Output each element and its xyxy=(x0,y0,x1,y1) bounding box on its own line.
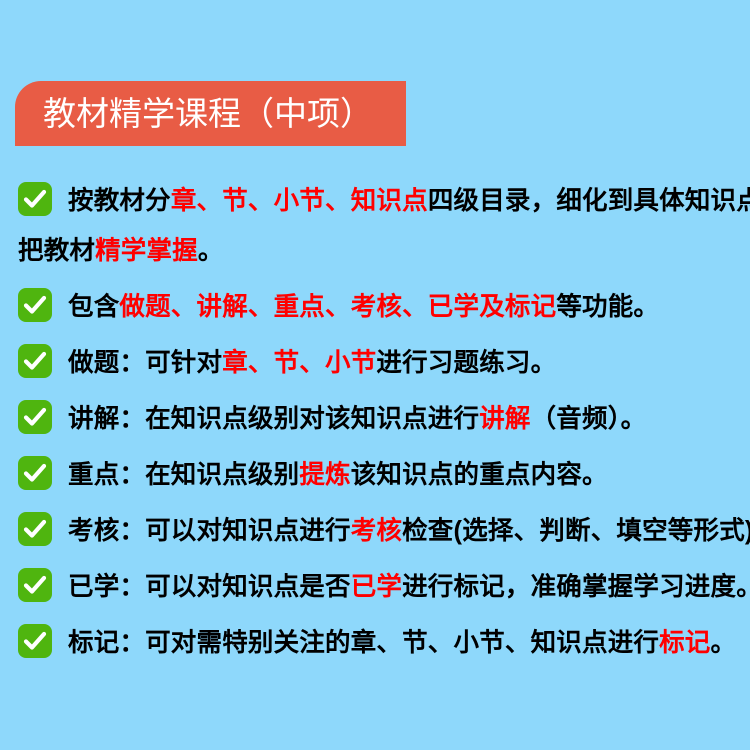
list-item-text: 做题：可针对章、节、小节进行习题练习。 xyxy=(68,338,750,388)
highlighted-text: 已学 xyxy=(351,573,402,601)
plain-text: 标记：可对需特别关注的章、节、小节、知识点进行 xyxy=(68,629,659,657)
plain-text: 四级目录，细化到具体知识点， xyxy=(428,187,750,215)
poster-root: 教材精学课程（中项） 按教材分章、节、小节、知识点四级目录，细化到具体知识点，把… xyxy=(0,0,750,750)
plain-text: 进行习题练习。 xyxy=(376,349,556,377)
list-item-text: 把教材精学掌握。 xyxy=(18,226,750,276)
list-item-text: 讲解：在知识点级别对该知识点进行讲解（音频）。 xyxy=(68,394,750,444)
list-item: 按教材分章、节、小节、知识点四级目录，细化到具体知识点， xyxy=(0,176,750,226)
highlighted-text: 精学掌握 xyxy=(95,237,198,265)
list-item: 已学：可以对知识点是否已学进行标记，准确掌握学习进度。 xyxy=(0,562,750,618)
plain-text: （音频）。 xyxy=(531,405,647,433)
check-icon xyxy=(18,456,52,490)
highlighted-text: 章、节、小节、知识点 xyxy=(171,187,428,215)
highlighted-text: 考核 xyxy=(351,517,402,545)
list-item-text: 考核：可以对知识点进行考核检查(选择、判断、填空等形式)。 xyxy=(68,506,750,556)
highlighted-text: 标记 xyxy=(659,629,710,657)
plain-text: 。 xyxy=(198,237,224,265)
highlighted-text: 章、节、小节 xyxy=(222,349,376,377)
page-title: 教材精学课程（中项） xyxy=(43,97,373,130)
list-item: 重点：在知识点级别提炼该知识点的重点内容。 xyxy=(0,450,750,506)
check-icon xyxy=(18,624,52,658)
list-item: 做题：可针对章、节、小节进行习题练习。 xyxy=(0,338,750,394)
list-item-text: 按教材分章、节、小节、知识点四级目录，细化到具体知识点， xyxy=(68,176,750,226)
plain-text: 把教材 xyxy=(18,237,95,265)
list-item: 包含做题、讲解、重点、考核、已学及标记等功能。 xyxy=(0,282,750,338)
list-item-continuation: 把教材精学掌握。 xyxy=(0,226,750,282)
list-item-text: 标记：可对需特别关注的章、节、小节、知识点进行标记。 xyxy=(68,618,750,668)
list-item-text: 重点：在知识点级别提炼该知识点的重点内容。 xyxy=(68,450,750,500)
list-item: 讲解：在知识点级别对该知识点进行讲解（音频）。 xyxy=(0,394,750,450)
plain-text: 按教材分 xyxy=(68,187,171,215)
plain-text: 检查(选择、判断、填空等形式)。 xyxy=(402,517,750,545)
list-item-text: 已学：可以对知识点是否已学进行标记，准确掌握学习进度。 xyxy=(68,562,750,612)
plain-text: 已学：可以对知识点是否 xyxy=(68,573,351,601)
plain-text: 重点：在知识点级别 xyxy=(68,461,299,489)
plain-text: 做题：可针对 xyxy=(68,349,222,377)
feature-list: 按教材分章、节、小节、知识点四级目录，细化到具体知识点，把教材精学掌握。包含做题… xyxy=(0,176,750,674)
check-icon xyxy=(18,182,52,216)
list-item: 标记：可对需特别关注的章、节、小节、知识点进行标记。 xyxy=(0,618,750,674)
plain-text: 。 xyxy=(711,629,737,657)
plain-text: 进行标记，准确掌握学习进度。 xyxy=(402,573,750,601)
check-icon xyxy=(18,400,52,434)
highlighted-text: 提炼 xyxy=(299,461,350,489)
list-item-text: 包含做题、讲解、重点、考核、已学及标记等功能。 xyxy=(68,282,750,332)
check-icon xyxy=(18,568,52,602)
plain-text: 讲解：在知识点级别对该知识点进行 xyxy=(68,405,479,433)
check-icon xyxy=(18,512,52,546)
plain-text: 等功能。 xyxy=(556,293,659,321)
plain-text: 包含 xyxy=(68,293,119,321)
plain-text: 该知识点的重点内容。 xyxy=(351,461,608,489)
title-banner: 教材精学课程（中项） xyxy=(15,81,406,146)
highlighted-text: 做题、讲解、重点、考核、已学及标记 xyxy=(119,293,556,321)
list-item: 考核：可以对知识点进行考核检查(选择、判断、填空等形式)。 xyxy=(0,506,750,562)
highlighted-text: 讲解 xyxy=(479,405,530,433)
check-icon xyxy=(18,344,52,378)
plain-text: 考核：可以对知识点进行 xyxy=(68,517,351,545)
check-icon xyxy=(18,288,52,322)
